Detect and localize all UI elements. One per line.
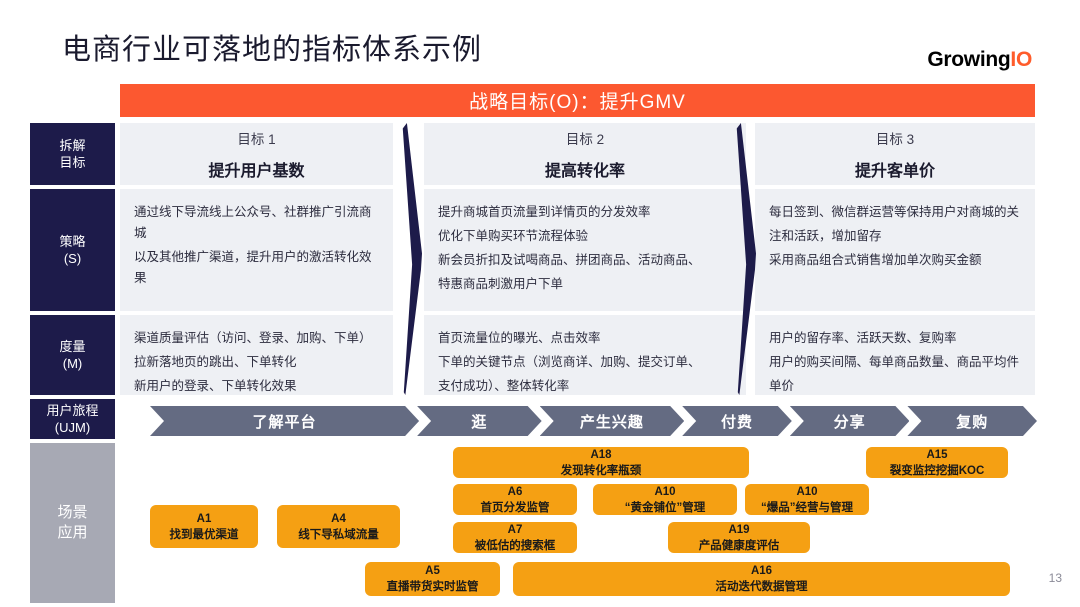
- scenario-chip-name: 线下导私域流量: [298, 527, 379, 543]
- rail-label-measure: 度量 (M): [30, 315, 115, 395]
- measure-line: 支付成功）、整体转化率: [438, 376, 732, 397]
- journey-stage-2[interactable]: 逛: [417, 406, 542, 436]
- measure-card-1: 渠道质量评估（访问、登录、加购、下单） 拉新落地页的跳出、下单转化 新用户的登录…: [120, 315, 393, 395]
- scenario-chip-name: 裂变监控挖掘KOC: [890, 463, 985, 479]
- scenario-chip-a1-7[interactable]: A1找到最优渠道: [150, 505, 258, 548]
- rail-label-user-journey: 用户旅程 (UJM): [30, 399, 115, 439]
- goal-card-subtitle: 目标 1: [237, 128, 275, 148]
- user-journey-chevron-bar: 了解平台逛产生兴趣付费分享复购: [150, 406, 1035, 436]
- strategy-card-1: 通过线下导流线上公众号、社群推广引流商城 以及其他推广渠道，提升用户的激活转化效…: [120, 189, 393, 311]
- scenario-chip-name: 产品健康度评估: [699, 538, 780, 554]
- strategy-objective-banner: 战略目标(O)：提升GMV: [120, 84, 1035, 117]
- measure-line: 用户的留存率、活跃天数、复购率: [769, 328, 1021, 349]
- scenario-chip-name: 找到最优渠道: [170, 527, 239, 543]
- measure-line: 单价: [769, 376, 1021, 397]
- scenario-chip-name: 活动迭代数据管理: [716, 579, 808, 595]
- goal-card-2: 目标 2 提高转化率: [424, 123, 746, 185]
- scenario-chip-code: A6: [508, 484, 523, 500]
- journey-stage-6[interactable]: 复购: [907, 406, 1037, 436]
- scenario-chip-code: A7: [508, 522, 523, 538]
- rail-label-line1: 度量: [59, 338, 85, 355]
- rail-label-line2: (S): [64, 250, 81, 267]
- goal-card-3: 目标 3 提升客单价: [755, 123, 1035, 185]
- page-number: 13: [1049, 571, 1062, 585]
- strategy-line: 新会员折扣及试喝商品、拼团商品、活动商品、: [438, 250, 732, 271]
- scenario-chip-code: A1: [197, 511, 212, 527]
- journey-stage-label: 了解平台: [253, 411, 317, 432]
- scenario-chip-a19-6[interactable]: A19产品健康度评估: [668, 522, 810, 553]
- scenario-chip-name: 首页分发监管: [481, 500, 550, 516]
- scenario-chip-code: A19: [728, 522, 749, 538]
- scenario-chip-a10-3[interactable]: A10“黄金铺位”管理: [593, 484, 737, 515]
- journey-stage-label: 付费: [721, 411, 753, 432]
- measure-line: 首页流量位的曝光、点击效率: [438, 328, 732, 349]
- column-separator-lens-icon: [396, 123, 422, 395]
- scenario-chip-name: 被低估的搜索框: [475, 538, 556, 554]
- scenario-chip-a7-5[interactable]: A7被低估的搜索框: [453, 522, 577, 553]
- scenario-chip-code: A10: [654, 484, 675, 500]
- journey-stage-1[interactable]: 了解平台: [150, 406, 419, 436]
- scenario-chip-name: “黄金铺位”管理: [625, 500, 706, 516]
- logo-primary-text: Growing: [927, 48, 1010, 71]
- rail-label-line1: 场景: [57, 503, 87, 523]
- rail-label-line1: 拆解: [59, 137, 85, 154]
- scenario-chip-code: A10: [796, 484, 817, 500]
- scenario-chip-name: “爆品”经营与管理: [761, 500, 853, 516]
- strategy-line: 特惠商品刺激用户下单: [438, 274, 732, 295]
- page-title: 电商行业可落地的指标体系示例: [62, 26, 482, 68]
- rail-label-strategy: 策略 (S): [30, 189, 115, 311]
- rail-label-line2: (M): [63, 355, 83, 372]
- strategy-line: 通过线下导流线上公众号、社群推广引流商城: [134, 202, 379, 244]
- goal-card-1: 目标 1 提升用户基数: [120, 123, 393, 185]
- strategy-line: 每日签到、微信群运营等保持用户对商城的关: [769, 202, 1021, 223]
- scenario-chip-a16-10[interactable]: A16活动迭代数据管理: [513, 562, 1010, 596]
- goal-card-title: 提高转化率: [545, 157, 625, 181]
- strategy-line: 提升商城首页流量到详情页的分发效率: [438, 202, 732, 223]
- scenario-chip-a18-0[interactable]: A18发现转化率瓶颈: [453, 447, 749, 478]
- rail-label-line2: 应用: [57, 523, 87, 543]
- journey-stage-3[interactable]: 产生兴趣: [540, 406, 685, 436]
- journey-stage-label: 逛: [471, 411, 487, 432]
- measure-card-3: 用户的留存率、活跃天数、复购率 用户的购买间隔、每单商品数量、商品平均件 单价: [755, 315, 1035, 395]
- rail-label-line2: (UJM): [55, 419, 90, 436]
- goal-card-subtitle: 目标 3: [876, 128, 914, 148]
- goal-card-title: 提升客单价: [855, 157, 935, 181]
- measure-line: 新用户的登录、下单转化效果: [134, 376, 379, 397]
- scenario-chip-name: 直播带货实时监管: [387, 579, 479, 595]
- goal-card-title: 提升用户基数: [208, 157, 304, 181]
- measure-card-2: 首页流量位的曝光、点击效率 下单的关键节点（浏览商详、加购、提交订单、 支付成功…: [424, 315, 746, 395]
- scenario-chip-a5-9[interactable]: A5直播带货实时监管: [365, 562, 500, 596]
- strategy-line: 采用商品组合式销售增加单次购买金额: [769, 250, 1021, 271]
- scenario-chip-name: 发现转化率瓶颈: [561, 463, 642, 479]
- strategy-card-2: 提升商城首页流量到详情页的分发效率 优化下单购买环节流程体验 新会员折扣及试喝商…: [424, 189, 746, 311]
- strategy-line: 以及其他推广渠道，提升用户的激活转化效果: [134, 247, 379, 289]
- journey-stage-5[interactable]: 分享: [790, 406, 910, 436]
- rail-label-line2: 目标: [59, 154, 85, 171]
- measure-line: 用户的购买间隔、每单商品数量、商品平均件: [769, 352, 1021, 373]
- journey-stage-4[interactable]: 付费: [682, 406, 792, 436]
- scenario-chip-a15-1[interactable]: A15裂变监控挖掘KOC: [866, 447, 1008, 478]
- strategy-card-3: 每日签到、微信群运营等保持用户对商城的关 注和活跃，增加留存 采用商品组合式销售…: [755, 189, 1035, 311]
- scenario-chip-code: A4: [331, 511, 346, 527]
- measure-line: 渠道质量评估（访问、登录、加购、下单）: [134, 328, 379, 349]
- scenario-chip-a10-4[interactable]: A10“爆品”经营与管理: [745, 484, 869, 515]
- rail-label-line1: 用户旅程: [46, 402, 98, 419]
- logo-accent-text: IO: [1010, 48, 1032, 71]
- measure-line: 拉新落地页的跳出、下单转化: [134, 352, 379, 373]
- scenario-chip-a6-2[interactable]: A6首页分发监管: [453, 484, 577, 515]
- strategy-line: 优化下单购买环节流程体验: [438, 226, 732, 247]
- rail-label-scenario-application: 场景 应用: [30, 443, 115, 603]
- goal-card-subtitle: 目标 2: [566, 128, 604, 148]
- slide-root: 电商行业可落地的指标体系示例 GrowingIO 战略目标(O)：提升GMV 拆…: [0, 0, 1080, 607]
- scenario-chip-code: A16: [751, 563, 772, 579]
- measure-line: 下单的关键节点（浏览商详、加购、提交订单、: [438, 352, 732, 373]
- growingio-logo: GrowingIO: [927, 48, 1032, 72]
- rail-label-decompose-goal: 拆解 目标: [30, 123, 115, 185]
- journey-stage-label: 分享: [834, 411, 866, 432]
- strategy-line: 注和活跃，增加留存: [769, 226, 1021, 247]
- rail-label-line1: 策略: [59, 233, 85, 250]
- scenario-chip-code: A5: [425, 563, 440, 579]
- journey-stage-label: 复购: [956, 411, 988, 432]
- scenario-chip-code: A18: [590, 447, 611, 463]
- journey-stage-label: 产生兴趣: [580, 411, 644, 432]
- scenario-chip-a4-8[interactable]: A4线下导私域流量: [277, 505, 400, 548]
- scenario-chip-code: A15: [926, 447, 947, 463]
